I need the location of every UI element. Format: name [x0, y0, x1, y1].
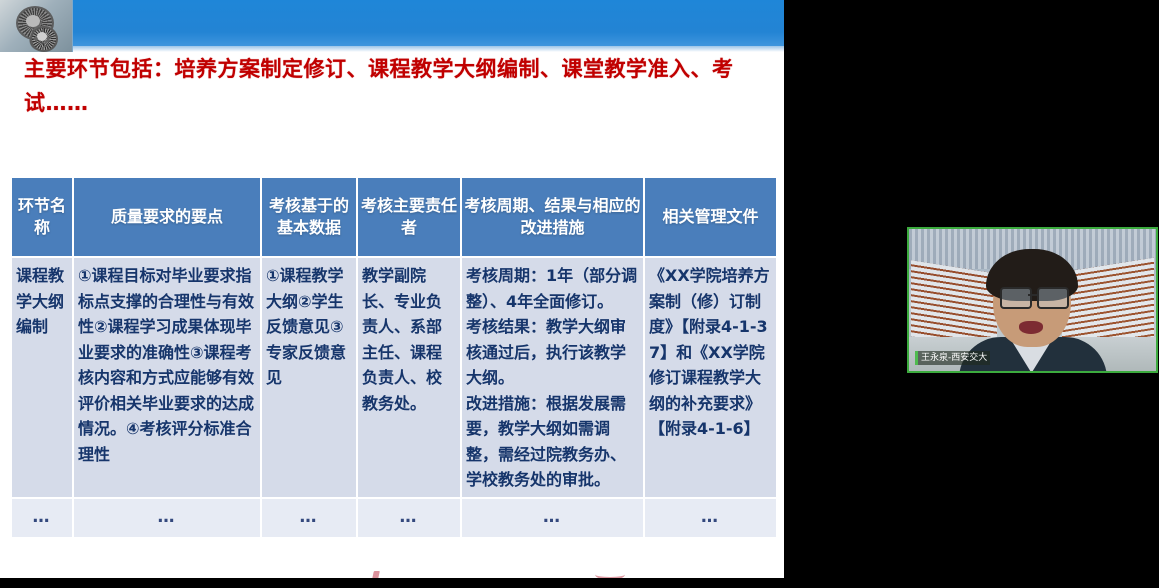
cell-link-name: 课程教学大纲编制 [12, 258, 72, 497]
partial-red-annotation [595, 569, 625, 578]
cell-basic-data: ①课程教学大纲②学生反馈意见③专家反馈意见 [262, 258, 356, 497]
partial-red-annotation [372, 571, 380, 578]
slide-banner [0, 0, 784, 46]
cell-ellipsis: … [12, 499, 72, 537]
quality-requirements-table: 环节名称 质量要求的要点 考核基于的基本数据 考核主要责任者 考核周期、结果与相… [10, 176, 778, 539]
table-row: … … … … … … [12, 499, 776, 537]
cell-cycle-results: 考核周期：1年（部分调整）、4年全面修订。 考核结果：教学大纲审核通过后，执行该… [462, 258, 643, 497]
column-header-responsible: 考核主要责任者 [358, 178, 460, 256]
table-row: 课程教学大纲编制 ①课程目标对毕业要求指标点支撑的合理性与有效性②课程学习成果体… [12, 258, 776, 497]
cell-responsible: 教学副院长、专业负责人、系部主任、课程负责人、校教务处。 [358, 258, 460, 497]
cell-ellipsis: … [462, 499, 643, 537]
cell-ellipsis: … [74, 499, 260, 537]
presentation-slide: 主要环节包括：培养方案制定修订、课程教学大纲编制、课堂教学准入、考试…… 环节名… [0, 0, 784, 578]
participant-video-tile[interactable]: 王永泉-西安交大 [907, 227, 1158, 373]
cell-ellipsis: … [358, 499, 460, 537]
column-header-basic-data: 考核基于的基本数据 [262, 178, 356, 256]
slide-title: 主要环节包括：培养方案制定修订、课程教学大纲编制、课堂教学准入、考试…… [24, 52, 766, 120]
cell-documents: 《XX学院培养方案制（修）订制度》【附录4-1-37】和《XX学院修订课程教学大… [645, 258, 776, 497]
column-header-link-name: 环节名称 [12, 178, 72, 256]
cell-ellipsis: … [645, 499, 776, 537]
cell-quality-points: ①课程目标对毕业要求指标点支撑的合理性与有效性②课程学习成果体现毕业要求的准确性… [74, 258, 260, 497]
cell-ellipsis: … [262, 499, 356, 537]
glasses-icon [1000, 287, 1032, 309]
participant-name-label: 王永泉-西安交大 [915, 351, 990, 365]
column-header-quality-points: 质量要求的要点 [74, 178, 260, 256]
gears-logo-icon [0, 0, 73, 52]
table-header-row: 环节名称 质量要求的要点 考核基于的基本数据 考核主要责任者 考核周期、结果与相… [12, 178, 776, 256]
column-header-documents: 相关管理文件 [645, 178, 776, 256]
column-header-cycle-results: 考核周期、结果与相应的改进措施 [462, 178, 643, 256]
